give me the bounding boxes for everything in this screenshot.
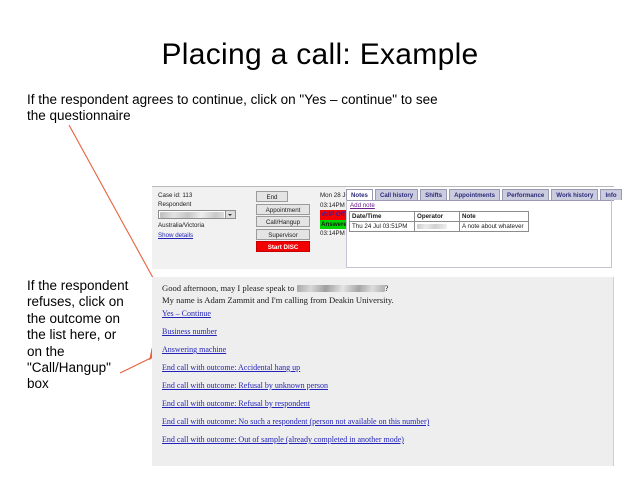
outcome-link-out-of-sample[interactable]: End call with outcome: Out of sample (al… bbox=[162, 435, 404, 444]
tab-notes[interactable]: Notes bbox=[346, 189, 373, 200]
call-hangup-button[interactable]: Call/Hangup bbox=[256, 216, 310, 227]
tab-call-history[interactable]: Call history bbox=[375, 189, 418, 200]
tab-body-notes: Add note Date/Time Operator Note Thu 24 … bbox=[346, 200, 612, 268]
outcome-link-accidental-hang-up[interactable]: End call with outcome: Accidental hang u… bbox=[162, 363, 300, 372]
tab-work-history[interactable]: Work history bbox=[551, 189, 598, 200]
tab-panel: Notes Call history Shifts Appointments P… bbox=[346, 187, 614, 269]
cell-note: A note about whatever bbox=[460, 222, 529, 232]
call-script-greeting: Good afternoon, may I please speak to ? … bbox=[162, 283, 602, 306]
greeting-line2: My name is Adam Zammit and I'm calling f… bbox=[162, 295, 394, 305]
respondent-name-redacted bbox=[297, 285, 385, 292]
case-id-label: Case id: 113 bbox=[158, 192, 192, 200]
outcome-link-answering-machine[interactable]: Answering machine bbox=[162, 345, 226, 354]
notes-table: Date/Time Operator Note Thu 24 Jul 03:51… bbox=[349, 211, 529, 232]
column-header-operator: Operator bbox=[415, 212, 460, 222]
timezone-label: Australia/Victoria bbox=[158, 222, 204, 230]
column-header-note: Note bbox=[460, 212, 529, 222]
annotation-text-left: If the respondent refuses, click on the … bbox=[27, 278, 129, 393]
greeting-line1-after: ? bbox=[385, 283, 389, 293]
chevron-down-icon[interactable] bbox=[225, 211, 235, 218]
supervisor-button[interactable]: Supervisor bbox=[256, 229, 310, 240]
greeting-line1-before: Good afternoon, may I please speak to bbox=[162, 283, 297, 293]
outcome-link-refusal-unknown-person[interactable]: End call with outcome: Refusal by unknow… bbox=[162, 381, 328, 390]
respondent-label: Respondent bbox=[158, 201, 191, 209]
outcome-link-no-such-respondent[interactable]: End call with outcome: No such a respond… bbox=[162, 417, 429, 426]
table-row[interactable]: Thu 24 Jul 03:51PM A note about whatever bbox=[350, 222, 529, 232]
action-button-group: End Appointment Call/Hangup Supervisor S… bbox=[256, 191, 312, 254]
annotation-text-top: If the respondent agrees to continue, cl… bbox=[27, 92, 457, 124]
arrow-line-top bbox=[69, 125, 163, 296]
tab-performance[interactable]: Performance bbox=[502, 189, 549, 200]
table-header-row: Date/Time Operator Note bbox=[350, 212, 529, 222]
outcome-link-yes-continue[interactable]: Yes – Continue bbox=[162, 309, 211, 318]
call-panel: Case id: 113 Respondent Australia/Victor… bbox=[152, 187, 347, 269]
cell-operator bbox=[415, 222, 460, 232]
outcome-link-refusal-by-respondent[interactable]: End call with outcome: Refusal by respon… bbox=[162, 399, 310, 408]
voip-status-badge[interactable]: VoIP Off bbox=[320, 210, 346, 220]
respondent-value-redacted bbox=[160, 212, 224, 218]
operator-value-redacted bbox=[417, 224, 447, 229]
script-content-area: Good afternoon, may I please speak to ? … bbox=[152, 277, 614, 466]
outcome-link-business-number[interactable]: Business number bbox=[162, 327, 217, 336]
tab-strip: Notes Call history Shifts Appointments P… bbox=[346, 189, 624, 200]
page-title: Placing a call: Example bbox=[0, 38, 640, 72]
cell-datetime: Thu 24 Jul 03:51PM bbox=[350, 222, 415, 232]
app-top-bar: Case id: 113 Respondent Australia/Victor… bbox=[152, 186, 614, 269]
show-details-link[interactable]: Show details bbox=[158, 232, 193, 240]
application-screenshot: Case id: 113 Respondent Australia/Victor… bbox=[152, 186, 614, 466]
tab-info[interactable]: Info bbox=[600, 189, 621, 200]
tab-shifts[interactable]: Shifts bbox=[420, 189, 447, 200]
column-header-datetime: Date/Time bbox=[350, 212, 415, 222]
tab-appointments[interactable]: Appointments bbox=[449, 189, 500, 200]
add-note-link[interactable]: Add note bbox=[350, 202, 375, 209]
respondent-select[interactable] bbox=[158, 210, 236, 219]
end-button[interactable]: End bbox=[256, 191, 288, 202]
appointment-button[interactable]: Appointment bbox=[256, 204, 310, 215]
start-disc-button[interactable]: Start DISC bbox=[256, 241, 310, 252]
